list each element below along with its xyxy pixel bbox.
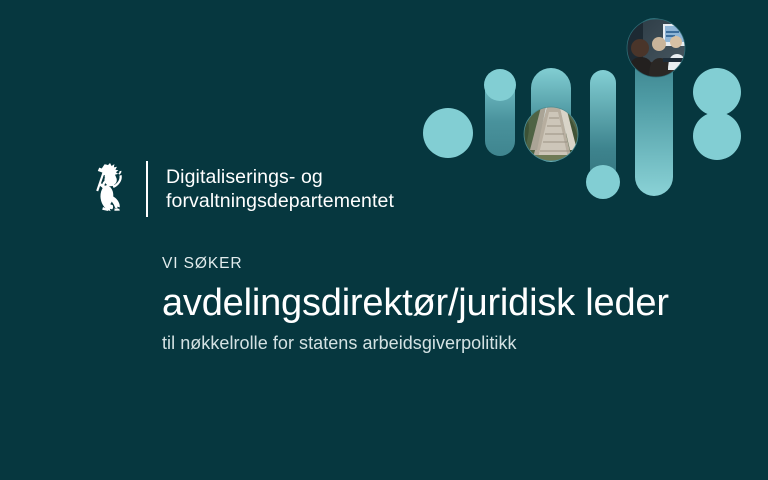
ministry-name: Digitaliserings- og forvaltningsdepartem… — [166, 165, 394, 213]
decor-circle-1 — [423, 108, 473, 158]
headline-block: VI SØKER avdelingsdirektør/juridisk lede… — [162, 254, 722, 355]
decor-pill-2-cap — [484, 69, 516, 101]
page-title: avdelingsdirektør/juridisk leder — [162, 281, 722, 325]
photo-inset-meeting-room-ring — [627, 19, 685, 77]
photo-inset-wooden-path-ring — [524, 107, 578, 161]
decor-circle-7 — [693, 112, 741, 160]
decor-pill-2 — [485, 70, 515, 156]
decor-pill-4 — [590, 70, 616, 182]
decor-pill-4-cap — [586, 165, 620, 199]
ministry-name-line-2: forvaltningsdepartementet — [166, 189, 394, 213]
photo-inset-meeting-room — [627, 19, 687, 77]
photo-inset-wooden-path — [524, 107, 578, 161]
ministry-name-line-1: Digitaliserings- og — [166, 165, 394, 189]
decor-pill-5 — [635, 18, 673, 196]
decorative-graphic — [420, 0, 768, 215]
decor-circle-6 — [693, 68, 741, 116]
job-advert-poster: Digitaliserings- og forvaltningsdepartem… — [0, 0, 768, 480]
norwegian-coat-of-arms-icon — [86, 160, 132, 218]
logo-divider — [146, 161, 148, 217]
decor-pill-3 — [531, 68, 571, 162]
ministry-logo: Digitaliserings- og forvaltningsdepartem… — [86, 160, 394, 218]
subtitle-text: til nøkkelrolle for statens arbeidsgiver… — [162, 331, 722, 355]
kicker-text: VI SØKER — [162, 254, 722, 274]
